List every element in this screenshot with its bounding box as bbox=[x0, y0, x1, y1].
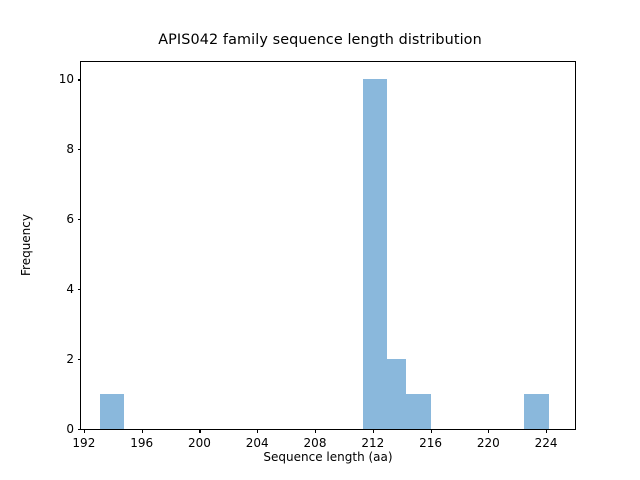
x-tick-mark bbox=[488, 429, 489, 433]
x-tick-label: 220 bbox=[477, 436, 500, 450]
x-tick-mark bbox=[142, 429, 143, 433]
x-tick-mark bbox=[373, 429, 374, 433]
x-tick-label: 208 bbox=[304, 436, 327, 450]
x-tick-mark bbox=[84, 429, 85, 433]
y-tick-label: 4 bbox=[66, 282, 74, 296]
x-tick-mark bbox=[199, 429, 200, 433]
y-tick-label: 0 bbox=[66, 422, 74, 436]
y-tick-mark bbox=[78, 359, 82, 360]
histogram-bar bbox=[363, 79, 388, 429]
y-tick-mark bbox=[78, 149, 82, 150]
x-tick-label: 204 bbox=[246, 436, 269, 450]
y-tick-label: 8 bbox=[66, 142, 74, 156]
x-tick-label: 212 bbox=[361, 436, 384, 450]
bars-layer bbox=[81, 62, 575, 429]
y-tick-label: 2 bbox=[66, 352, 74, 366]
x-tick-mark bbox=[257, 429, 258, 433]
x-tick-mark bbox=[546, 429, 547, 433]
y-tick-label: 6 bbox=[66, 212, 74, 226]
y-tick-mark bbox=[78, 289, 82, 290]
x-axis-label: Sequence length (aa) bbox=[80, 450, 576, 464]
plot-area: 1921962002042082122162202240246810 bbox=[80, 61, 576, 430]
y-axis-label: Frequency bbox=[19, 214, 33, 276]
histogram-bar bbox=[387, 359, 406, 429]
x-tick-label: 192 bbox=[72, 436, 95, 450]
y-tick-mark bbox=[78, 219, 82, 220]
chart-title: APIS042 family sequence length distribut… bbox=[0, 32, 640, 48]
x-tick-label: 196 bbox=[130, 436, 153, 450]
x-tick-label: 224 bbox=[535, 436, 558, 450]
histogram-bar bbox=[524, 394, 549, 429]
y-tick-mark bbox=[78, 429, 82, 430]
x-tick-label: 216 bbox=[419, 436, 442, 450]
histogram-bar bbox=[406, 394, 431, 429]
y-tick-label: 10 bbox=[59, 72, 74, 86]
y-tick-mark bbox=[78, 79, 82, 80]
histogram-bar bbox=[100, 394, 125, 429]
histogram-figure: APIS042 family sequence length distribut… bbox=[0, 0, 640, 480]
x-tick-label: 200 bbox=[188, 436, 211, 450]
x-tick-mark bbox=[315, 429, 316, 433]
x-tick-mark bbox=[431, 429, 432, 433]
